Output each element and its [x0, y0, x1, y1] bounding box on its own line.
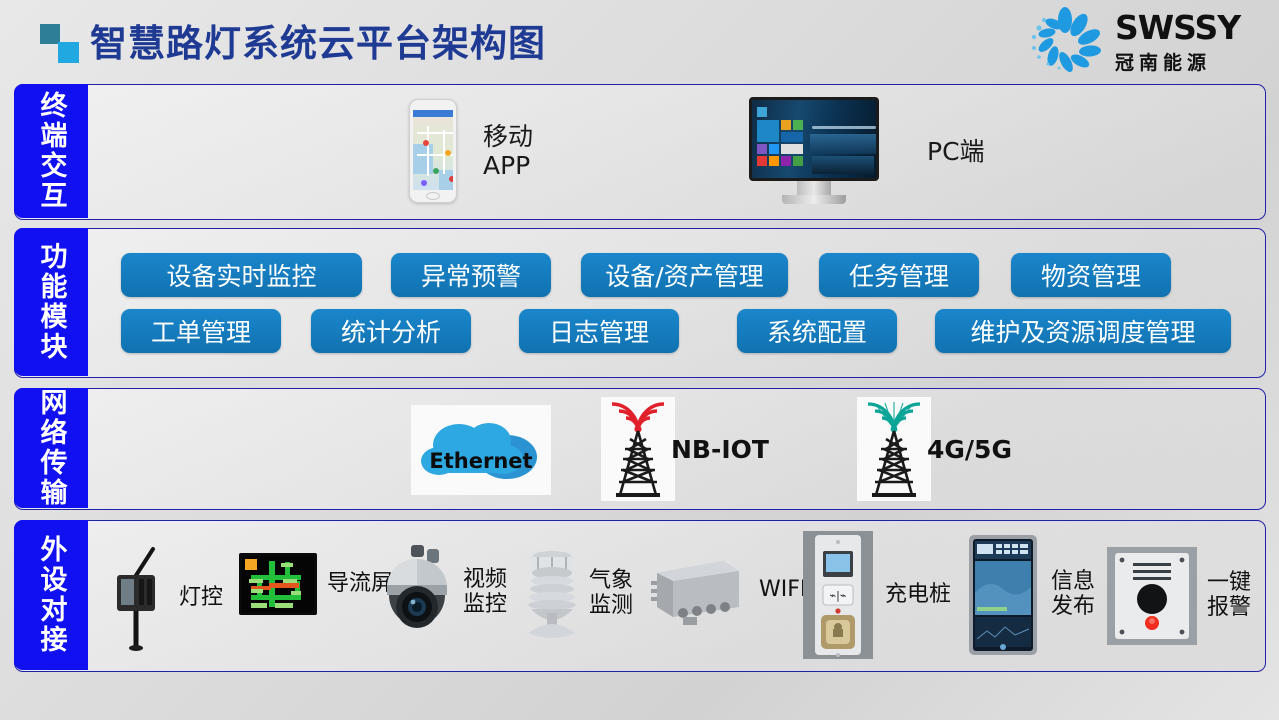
- terminal-item-pc[interactable]: PC端: [749, 97, 985, 205]
- page-title: 智慧路灯系统云平台架构图: [90, 13, 546, 67]
- device-item-label: 信息 发布: [1051, 570, 1095, 619]
- section-tab-function-modules[interactable]: 功能模块: [14, 228, 88, 376]
- module-button-statistical-analysis[interactable]: 统计分析: [311, 309, 471, 353]
- device-item-information-display[interactable]: 信息 发布: [969, 535, 1095, 655]
- company-logo: SWSSY 冠南能源: [1019, 4, 1269, 76]
- device-item-label: 视频 监控: [463, 568, 507, 617]
- title-mark-square-light: [58, 42, 79, 63]
- title-mark-square-dark: [40, 24, 60, 44]
- cloud-icon: Ethernet: [411, 405, 551, 495]
- module-button-system-configuration[interactable]: 系统配置: [737, 309, 897, 353]
- lamp-controller-icon: [109, 543, 173, 653]
- section-tab-peripheral-devices[interactable]: 外设对接: [14, 520, 88, 670]
- section-network-body: Ethernet Ethernet: [89, 389, 1265, 509]
- smartphone-icon: [409, 99, 457, 203]
- section-tab-label: 终端交互: [32, 91, 71, 211]
- section-tab-label: 功能模块: [32, 242, 71, 362]
- module-button-maintenance-resource-dispatch[interactable]: 维护及资源调度管理: [935, 309, 1231, 353]
- section-tab-terminal-interaction[interactable]: 终端交互: [14, 84, 88, 218]
- logo-brand-en: SWSSY: [1115, 8, 1240, 47]
- device-item-lamp-controller[interactable]: 灯控: [109, 543, 223, 653]
- module-button-material-management[interactable]: 物资管理: [1011, 253, 1171, 297]
- network-item-nbiot[interactable]: NB-IOT: [601, 397, 769, 501]
- device-item-guidance-screen[interactable]: 导流屏: [239, 553, 393, 615]
- section-terminal-interaction: 终端交互 移动 APP: [14, 84, 1266, 220]
- section-peripheral-devices: 外设对接 灯控: [14, 520, 1266, 672]
- title-mark-icon: [40, 24, 88, 66]
- module-button-abnormal-alert[interactable]: 异常预警: [391, 253, 551, 297]
- section-tab-label: 网络传输: [32, 388, 71, 508]
- water-droplet-logo-icon: [1019, 6, 1111, 74]
- emergency-button-icon: [1107, 547, 1197, 645]
- device-item-one-key-alarm[interactable]: 一键 报警: [1107, 547, 1251, 645]
- module-button-device-asset-management[interactable]: 设备/资产管理: [581, 253, 788, 297]
- info-display-icon: [969, 535, 1037, 655]
- svg-text:Ethernet: Ethernet: [429, 449, 532, 473]
- radio-tower-icon: [601, 397, 675, 501]
- section-modules-body: 设备实时监控 异常预警 设备/资产管理 任务管理 物资管理 工单管理 统计分析 …: [89, 229, 1265, 377]
- section-tab-network-transmission[interactable]: 网络传输: [14, 388, 88, 508]
- guidance-screen-icon: [239, 553, 317, 615]
- section-terminal-body: 移动 APP: [89, 85, 1265, 219]
- section-network-transmission: 网络传输 Ethernet Ethe: [14, 388, 1266, 510]
- device-item-video-surveillance[interactable]: 视频 监控: [379, 541, 507, 645]
- network-item-label: NB-IOT: [671, 435, 769, 464]
- device-item-label: 充电桩: [885, 583, 951, 608]
- device-item-label: 气象 监测: [589, 569, 633, 618]
- section-devices-body: 灯控: [89, 521, 1265, 671]
- device-item-label: 灯控: [179, 586, 223, 611]
- ptz-camera-icon: [379, 541, 455, 645]
- logo-brand-cn: 冠南能源: [1115, 48, 1240, 75]
- radio-tower-icon: [857, 397, 931, 501]
- module-button-device-realtime-monitor[interactable]: 设备实时监控: [121, 253, 362, 297]
- device-item-charging-pile[interactable]: ⌁|⌁ 充电桩: [803, 531, 951, 659]
- weather-sensor-icon: [521, 539, 583, 649]
- logo-text-block: SWSSY 冠南能源: [1115, 8, 1240, 75]
- section-tab-label: 外设对接: [32, 535, 71, 655]
- module-button-work-order-management[interactable]: 工单管理: [121, 309, 281, 353]
- network-item-label: 4G/5G: [927, 435, 1012, 464]
- svg-text:⌁|⌁: ⌁|⌁: [830, 589, 847, 602]
- terminal-item-mobile-app[interactable]: 移动 APP: [409, 99, 533, 203]
- desktop-monitor-icon: [749, 97, 879, 205]
- page-header: 智慧路灯系统云平台架构图 SWSSY: [0, 0, 1279, 78]
- section-function-modules: 功能模块 设备实时监控 异常预警 设备/资产管理 任务管理 物资管理 工单管理 …: [14, 228, 1266, 378]
- device-item-label: WIFI: [759, 578, 806, 603]
- terminal-item-label: PC端: [927, 137, 985, 166]
- network-item-4g5g[interactable]: 4G/5G: [857, 397, 1012, 501]
- charging-pile-icon: ⌁|⌁: [803, 531, 873, 659]
- module-button-log-management[interactable]: 日志管理: [519, 309, 679, 353]
- wifi-box-icon: [649, 555, 743, 625]
- module-button-task-management[interactable]: 任务管理: [819, 253, 979, 297]
- device-item-wifi[interactable]: WIFI: [649, 555, 806, 625]
- device-item-label: 一键 报警: [1207, 571, 1251, 620]
- terminal-item-label: 移动 APP: [483, 122, 533, 180]
- device-item-weather-monitoring[interactable]: 气象 监测: [521, 539, 633, 649]
